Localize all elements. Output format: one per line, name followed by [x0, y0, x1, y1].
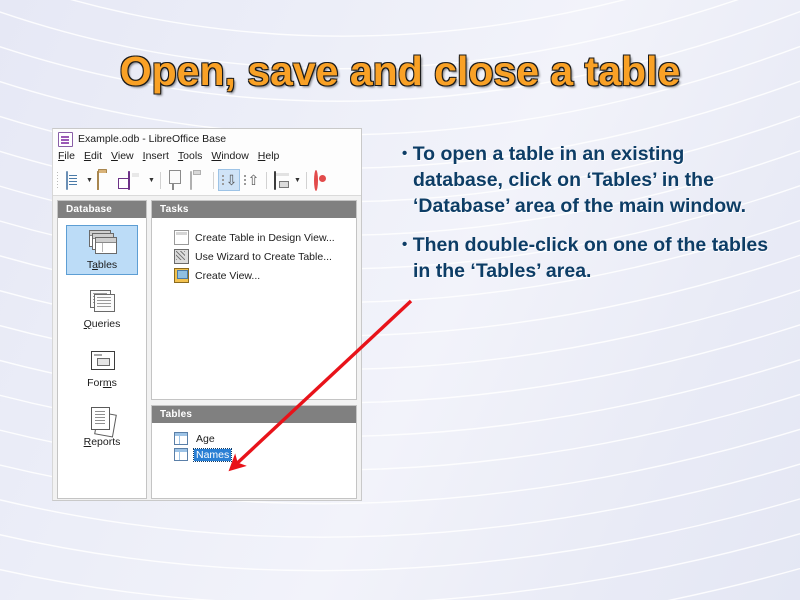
- database-pane-header: Database: [58, 201, 146, 218]
- queries-icon: [87, 289, 117, 315]
- menu-item-tools[interactable]: Tools: [178, 150, 203, 162]
- bullet-item: • Then double-click on one of the tables…: [402, 233, 774, 285]
- sidebar-item-label-tables: Tables: [87, 259, 117, 271]
- sort-ascending-icon[interactable]: ⇧: [240, 169, 262, 191]
- menu-item-insert[interactable]: Insert: [143, 150, 169, 162]
- table-icon: [174, 448, 188, 461]
- bullet-marker: •: [402, 145, 407, 162]
- menu-item-edit[interactable]: Edit: [84, 150, 102, 162]
- window-body: Database Tables Queries: [53, 196, 361, 501]
- sidebar-item-reports[interactable]: Reports: [66, 402, 138, 452]
- sidebar-item-label-forms: Forms: [87, 377, 117, 389]
- sort-descending-icon[interactable]: ⇩: [218, 169, 240, 191]
- menu-item-help[interactable]: Help: [258, 150, 280, 162]
- odb-document-icon: [58, 132, 73, 147]
- open-folder-icon[interactable]: [94, 169, 116, 191]
- tasks-pane: Tasks Create Table in Design View... Use…: [151, 200, 357, 400]
- toolbar-separator: [266, 172, 267, 189]
- toolbar-separator: [306, 172, 307, 189]
- new-document-icon[interactable]: [63, 169, 85, 191]
- slide-canvas: Open, save and close a table • To open a…: [0, 0, 800, 600]
- create-view-icon: [174, 268, 189, 283]
- toolbar: ▼ ▼ ▼ ⇩ ⇧: [53, 165, 361, 196]
- window-title: Example.odb - LibreOffice Base: [78, 133, 226, 145]
- design-view-icon: [174, 230, 189, 245]
- save-icon[interactable]: [125, 169, 147, 191]
- database-pane-items: Tables Queries Forms: [58, 218, 146, 498]
- form-icon[interactable]: [271, 169, 293, 191]
- task-label: Create View...: [195, 270, 260, 282]
- sidebar-item-forms[interactable]: Forms: [66, 343, 138, 393]
- list-item[interactable]: Use Wizard to Create Table...: [174, 249, 356, 264]
- tables-pane: Tables Age Names: [151, 405, 357, 499]
- list-item-age[interactable]: Age: [174, 432, 356, 445]
- table-label: Age: [194, 433, 217, 445]
- menu-item-view[interactable]: View: [111, 150, 134, 162]
- task-label: Use Wizard to Create Table...: [195, 251, 332, 263]
- bullet-item: • To open a table in an existing databas…: [402, 142, 774, 220]
- bullet-text: To open a table in an existing database,…: [413, 143, 746, 217]
- list-item-names[interactable]: Names: [174, 448, 356, 461]
- sidebar-item-tables[interactable]: Tables: [66, 225, 138, 275]
- form-dropdown-chevron-down-icon[interactable]: ▼: [293, 169, 302, 191]
- right-column: Tasks Create Table in Design View... Use…: [151, 200, 357, 499]
- toolbar-separator: [213, 172, 214, 189]
- help-lifering-icon[interactable]: [311, 169, 333, 191]
- list-item[interactable]: Create Table in Design View...: [174, 230, 356, 245]
- save-dropdown-chevron-down-icon[interactable]: ▼: [147, 169, 156, 191]
- new-document-dropdown-chevron-down-icon[interactable]: ▼: [85, 169, 94, 191]
- sidebar-item-label-reports: Reports: [84, 436, 121, 448]
- forms-icon: [87, 348, 117, 374]
- list-item[interactable]: Create View...: [174, 268, 356, 283]
- slide-body: • To open a table in an existing databas…: [402, 142, 774, 298]
- window-titlebar: Example.odb - LibreOffice Base: [53, 129, 361, 147]
- database-pane: Database Tables Queries: [57, 200, 147, 499]
- toolbar-separator: [160, 172, 161, 189]
- tables-icon: [87, 230, 117, 256]
- bullet-text: Then double-click on one of the tables i…: [413, 234, 768, 282]
- libreoffice-base-window-image: Example.odb - LibreOffice Base File Edit…: [52, 128, 362, 501]
- menu-item-window[interactable]: Window: [211, 150, 248, 162]
- tasks-list: Create Table in Design View... Use Wizar…: [152, 218, 356, 287]
- table-label: Names: [194, 449, 231, 461]
- menu-bar: File Edit View Insert Tools Window Help: [53, 147, 361, 165]
- sidebar-item-queries[interactable]: Queries: [66, 284, 138, 334]
- copy-icon[interactable]: [165, 169, 187, 191]
- paste-icon[interactable]: [187, 169, 209, 191]
- slide-title: Open, save and close a table: [0, 48, 800, 95]
- tasks-pane-header: Tasks: [152, 201, 356, 218]
- reports-icon: [87, 407, 117, 433]
- table-icon: [174, 432, 188, 445]
- tables-list: Age Names: [152, 423, 356, 464]
- toolbar-grip[interactable]: [56, 171, 60, 189]
- sidebar-item-label-queries: Queries: [84, 318, 121, 330]
- bullet-marker: •: [402, 236, 407, 253]
- wizard-icon: [174, 249, 189, 264]
- task-label: Create Table in Design View...: [195, 232, 335, 244]
- menu-item-file[interactable]: File: [58, 150, 75, 162]
- tables-pane-header: Tables: [152, 406, 356, 423]
